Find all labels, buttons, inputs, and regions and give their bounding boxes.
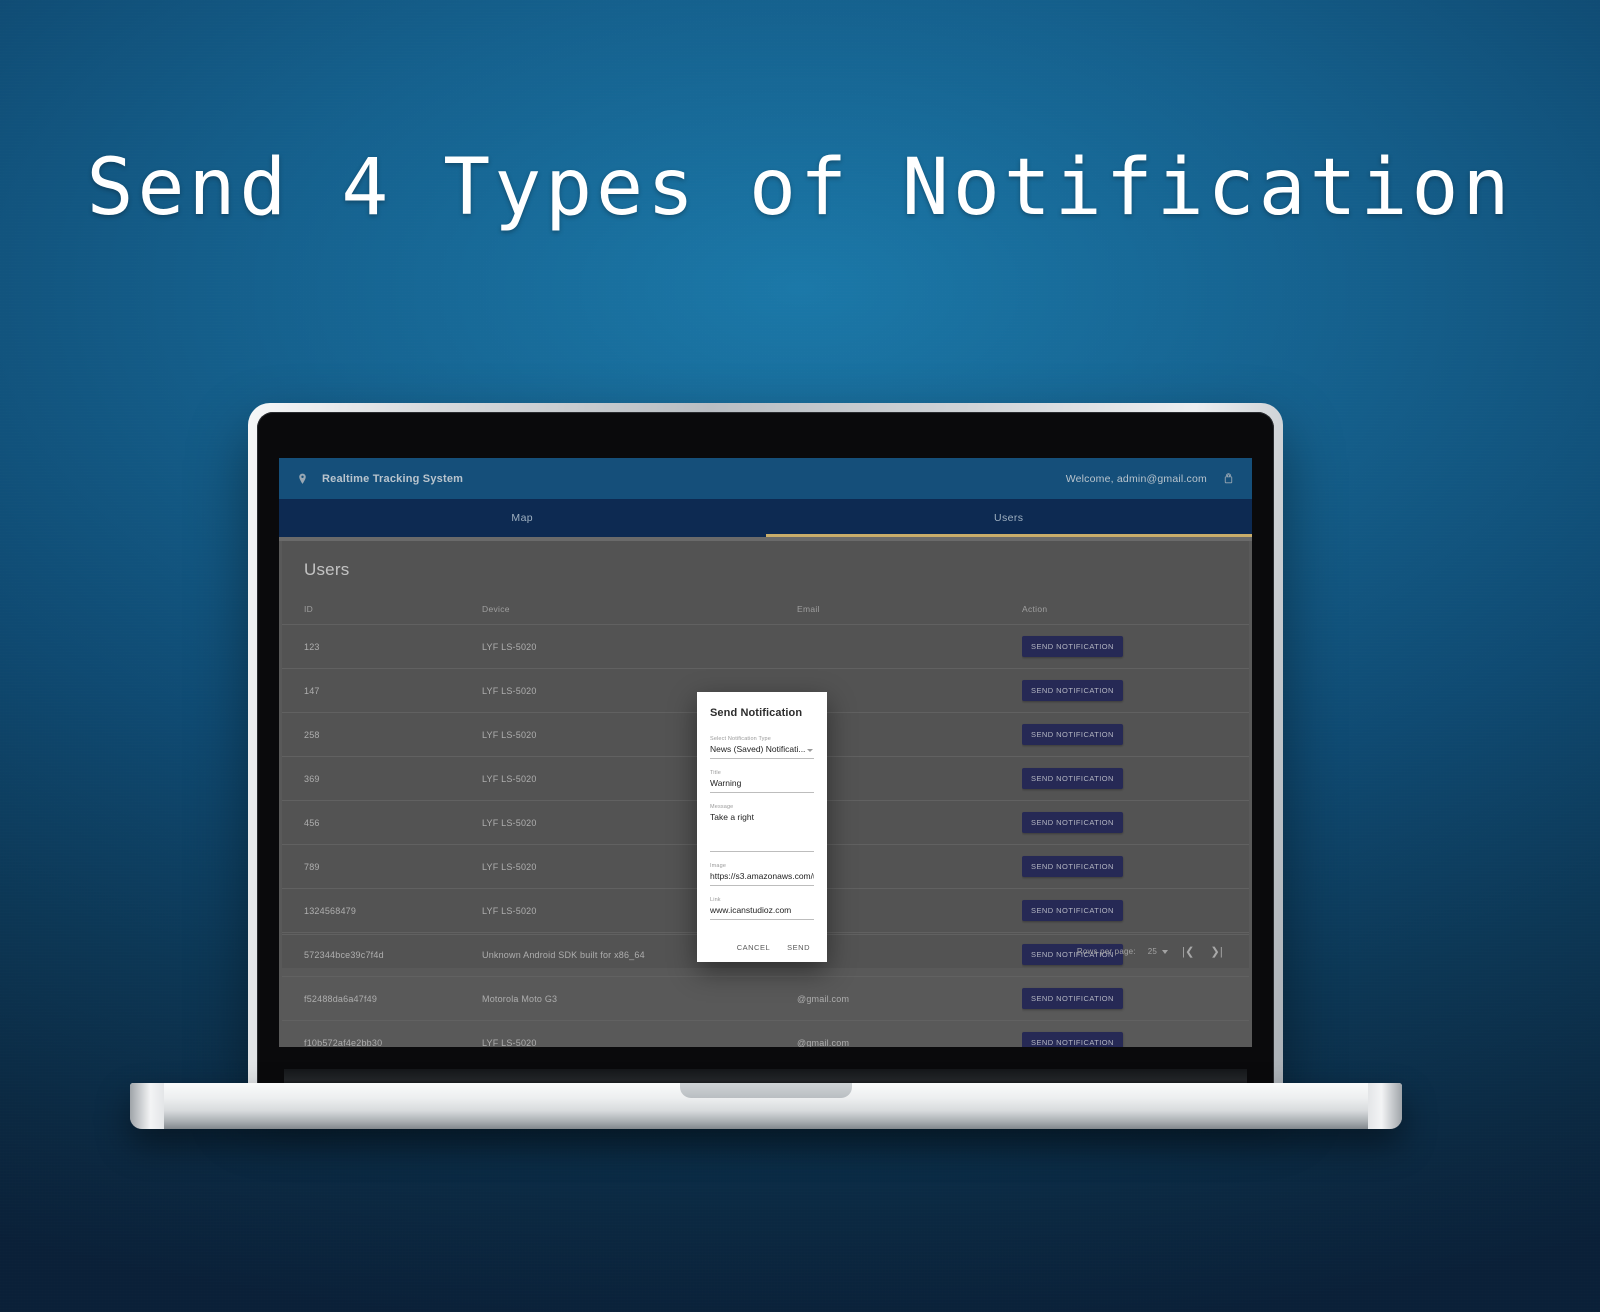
content-area: Users ID Device Email — [279, 541, 1252, 1047]
laptop-base-left-cap — [130, 1083, 164, 1129]
welcome-text: Welcome, admin@gmail.com — [1066, 473, 1207, 485]
laptop-base — [130, 1083, 1402, 1129]
chevron-down-icon — [807, 749, 813, 752]
laptop-base-right-cap — [1368, 1083, 1402, 1129]
laptop-base-notch — [680, 1083, 852, 1098]
field-message-value: Take a right — [710, 812, 814, 852]
lock-icon[interactable] — [1222, 471, 1235, 486]
field-message-label: Message — [710, 804, 814, 810]
field-image[interactable]: Image https://s3.amazonaws.com/u — [710, 863, 814, 886]
tab-map[interactable]: Map — [279, 499, 766, 537]
send-button[interactable]: SEND — [787, 943, 810, 952]
app-bar: Realtime Tracking System Welcome, admin@… — [279, 458, 1252, 499]
send-notification-dialog: Send Notification Select Notification Ty… — [697, 692, 827, 962]
laptop-mockup: Realtime Tracking System Welcome, admin@… — [248, 403, 1283, 1091]
tab-map-label: Map — [511, 512, 533, 524]
modal-overlay[interactable]: Send Notification Select Notification Ty… — [279, 541, 1252, 1047]
poster-headline: Send 4 Types of Notification — [0, 148, 1600, 230]
field-title[interactable]: Title Warning — [710, 770, 814, 793]
field-image-value: https://s3.amazonaws.com/u — [710, 871, 814, 886]
field-notification-type-value: News (Saved) Notificati... — [710, 744, 814, 759]
location-pin-icon — [296, 471, 309, 487]
app-title: Realtime Tracking System — [322, 473, 463, 485]
field-link-label: Link — [710, 897, 814, 903]
app-brand: Realtime Tracking System — [296, 471, 463, 487]
tab-users[interactable]: Users — [766, 499, 1253, 537]
field-image-label: Image — [710, 863, 814, 869]
cancel-button[interactable]: CANCEL — [737, 943, 770, 952]
field-notification-type[interactable]: Select Notification Type News (Saved) No… — [710, 736, 814, 759]
laptop-screen: Realtime Tracking System Welcome, admin@… — [279, 458, 1252, 1047]
laptop-bezel: Realtime Tracking System Welcome, admin@… — [257, 412, 1274, 1091]
dialog-title: Send Notification — [710, 707, 814, 719]
field-message[interactable]: Message Take a right — [710, 804, 814, 852]
field-title-label: Title — [710, 770, 814, 776]
field-title-value: Warning — [710, 778, 814, 793]
field-notification-type-label: Select Notification Type — [710, 736, 814, 742]
dialog-actions: CANCEL SEND — [710, 931, 814, 952]
poster-canvas: Send 4 Types of Notification Realtime Tr… — [0, 0, 1600, 1312]
tab-bar: Map Users — [279, 499, 1252, 537]
tab-users-label: Users — [994, 512, 1023, 524]
field-link-value: www.icanstudioz.com — [710, 905, 814, 920]
field-link[interactable]: Link www.icanstudioz.com — [710, 897, 814, 920]
laptop-lid: Realtime Tracking System Welcome, admin@… — [248, 403, 1283, 1091]
